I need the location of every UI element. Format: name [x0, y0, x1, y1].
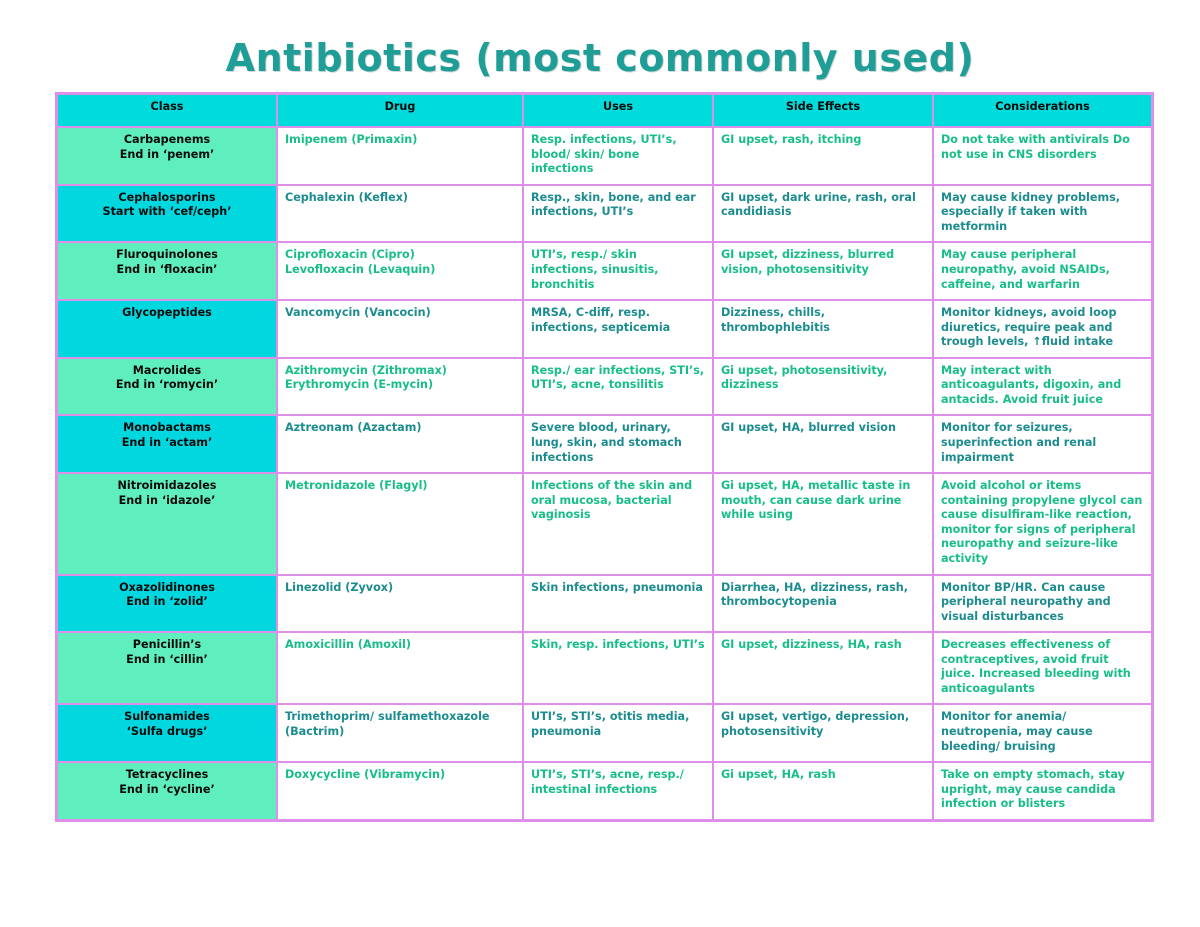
cell-uses-line: UTI’s, STI’s, otitis media, pneumonia: [531, 710, 705, 739]
cell-drug-line: Imipenem (Primaxin): [285, 133, 515, 148]
cell-side-effects: GI upset, HA, blurred vision: [714, 416, 934, 474]
cell-drug-line: Ciprofloxacin (Cipro): [285, 248, 515, 263]
class-name: Nitroimidazoles: [65, 479, 269, 494]
cell-class: CephalosporinsStart with ‘cef/ceph’: [58, 186, 278, 244]
class-name: Cephalosporins: [65, 191, 269, 206]
cell-class: MacrolidesEnd in ‘romycin’: [58, 359, 278, 417]
cell-class: Penicillin’sEnd in ‘cillin’: [58, 633, 278, 705]
cell-drug: Trimethoprim/ sulfamethoxazole (Bactrim): [278, 705, 524, 763]
table-row: MacrolidesEnd in ‘romycin’Azithromycin (…: [58, 359, 1151, 417]
cell-considerations: May cause peripheral neuropathy, avoid N…: [934, 243, 1151, 301]
cell-side-effects: GI upset, vertigo, depression, photosens…: [714, 705, 934, 763]
cell-side-effects-line: Diarrhea, HA, dizziness, rash, thrombocy…: [721, 581, 925, 610]
cell-class: OxazolidinonesEnd in ‘zolid’: [58, 576, 278, 634]
cell-uses-line: Resp./ ear infections, STI’s, UTI’s, acn…: [531, 364, 705, 393]
table-row: GlycopeptidesVancomycin (Vancocin)MRSA, …: [58, 301, 1151, 359]
cell-drug-line: Cephalexin (Keflex): [285, 191, 515, 206]
page-title: Antibiotics (most commonly used): [0, 36, 1200, 80]
cell-side-effects: Gi upset, photosensitivity, dizziness: [714, 359, 934, 417]
cell-side-effects-line: GI upset, dark urine, rash, oral candidi…: [721, 191, 925, 220]
cell-drug: Amoxicillin (Amoxil): [278, 633, 524, 705]
table-header: Class Drug Uses Side Effects Considerati…: [58, 95, 1151, 128]
column-header-side-effects: Side Effects: [714, 95, 934, 128]
cell-drug-line: Doxycycline (Vibramycin): [285, 768, 515, 783]
table-row: NitroimidazolesEnd in ‘idazole’Metronida…: [58, 474, 1151, 575]
class-hint: End in ‘floxacin’: [65, 263, 269, 278]
cell-considerations-line: Decreases effectiveness of contraceptive…: [941, 638, 1144, 696]
column-header-class: Class: [58, 95, 278, 128]
cell-drug: Azithromycin (Zithromax)Erythromycin (E-…: [278, 359, 524, 417]
cell-uses-line: Infections of the skin and oral mucosa, …: [531, 479, 705, 523]
cell-drug-line: Levofloxacin (Levaquin): [285, 263, 515, 278]
cell-drug: Vancomycin (Vancocin): [278, 301, 524, 359]
cell-uses: Skin infections, pneumonia: [524, 576, 714, 634]
cell-class: TetracyclinesEnd in ‘cycline’: [58, 763, 278, 819]
cell-considerations-line: May cause peripheral neuropathy, avoid N…: [941, 248, 1144, 292]
antibiotics-table: Class Drug Uses Side Effects Considerati…: [55, 92, 1154, 822]
cell-considerations: Monitor kidneys, avoid loop diuretics, r…: [934, 301, 1151, 359]
class-name: Oxazolidinones: [65, 581, 269, 596]
cell-drug-line: Vancomycin (Vancocin): [285, 306, 515, 321]
table-row: OxazolidinonesEnd in ‘zolid’Linezolid (Z…: [58, 576, 1151, 634]
class-name: Monobactams: [65, 421, 269, 436]
slide-page: Antibiotics (most commonly used) Class D…: [0, 0, 1200, 927]
cell-considerations-line: Monitor for seizures, superinfection and…: [941, 421, 1144, 465]
cell-class: CarbapenemsEnd in ‘penem’: [58, 128, 278, 186]
cell-drug-line: Amoxicillin (Amoxil): [285, 638, 515, 653]
table-row: TetracyclinesEnd in ‘cycline’Doxycycline…: [58, 763, 1151, 819]
cell-considerations: Do not take with antivirals Do not use i…: [934, 128, 1151, 186]
cell-uses-line: Resp., skin, bone, and ear infections, U…: [531, 191, 705, 220]
table-row: Penicillin’sEnd in ‘cillin’Amoxicillin (…: [58, 633, 1151, 705]
cell-drug-line: Metronidazole (Flagyl): [285, 479, 515, 494]
cell-considerations: Monitor for anemia/ neutropenia, may cau…: [934, 705, 1151, 763]
cell-side-effects: Dizziness, chills, thrombophlebitis: [714, 301, 934, 359]
class-hint: End in ‘cillin’: [65, 653, 269, 668]
cell-considerations-line: Take on empty stomach, stay upright, may…: [941, 768, 1144, 812]
class-hint: Start with ‘cef/ceph’: [65, 205, 269, 220]
cell-side-effects: GI upset, dizziness, blurred vision, pho…: [714, 243, 934, 301]
table-row: FluroquinolonesEnd in ‘floxacin’Ciproflo…: [58, 243, 1151, 301]
cell-side-effects-line: Gi upset, HA, metallic taste in mouth, c…: [721, 479, 925, 523]
cell-side-effects: GI upset, dark urine, rash, oral candidi…: [714, 186, 934, 244]
class-name: Penicillin’s: [65, 638, 269, 653]
column-header-considerations: Considerations: [934, 95, 1151, 128]
cell-considerations-line: Monitor for anemia/ neutropenia, may cau…: [941, 710, 1144, 754]
column-header-uses: Uses: [524, 95, 714, 128]
cell-drug: Ciprofloxacin (Cipro)Levofloxacin (Levaq…: [278, 243, 524, 301]
cell-uses-line: MRSA, C-diff, resp. infections, septicem…: [531, 306, 705, 335]
table-row: CephalosporinsStart with ‘cef/ceph’Cepha…: [58, 186, 1151, 244]
cell-uses-line: Skin, resp. infections, UTI’s: [531, 638, 705, 653]
class-hint: End in ‘cycline’: [65, 783, 269, 798]
antibiotics-table-container: Class Drug Uses Side Effects Considerati…: [55, 92, 1148, 822]
cell-drug: Cephalexin (Keflex): [278, 186, 524, 244]
cell-uses-line: Skin infections, pneumonia: [531, 581, 705, 596]
cell-drug: Linezolid (Zyvox): [278, 576, 524, 634]
class-hint: End in ‘penem’: [65, 148, 269, 163]
cell-class: Sulfonamides‘Sulfa drugs’: [58, 705, 278, 763]
cell-uses-line: UTI’s, resp./ skin infections, sinusitis…: [531, 248, 705, 292]
cell-uses-line: Severe blood, urinary, lung, skin, and s…: [531, 421, 705, 465]
cell-considerations: Take on empty stomach, stay upright, may…: [934, 763, 1151, 819]
cell-drug-line: Trimethoprim/ sulfamethoxazole (Bactrim): [285, 710, 515, 739]
table-row: MonobactamsEnd in ‘actam’Aztreonam (Azac…: [58, 416, 1151, 474]
cell-uses-line: Resp. infections, UTI’s, blood/ skin/ bo…: [531, 133, 705, 177]
cell-drug: Doxycycline (Vibramycin): [278, 763, 524, 819]
cell-side-effects-line: GI upset, rash, itching: [721, 133, 925, 148]
cell-side-effects-line: GI upset, HA, blurred vision: [721, 421, 925, 436]
cell-uses: Resp./ ear infections, STI’s, UTI’s, acn…: [524, 359, 714, 417]
cell-considerations: May cause kidney problems, especially if…: [934, 186, 1151, 244]
cell-considerations: Monitor for seizures, superinfection and…: [934, 416, 1151, 474]
cell-drug-line: Linezolid (Zyvox): [285, 581, 515, 596]
cell-side-effects-line: Gi upset, photosensitivity, dizziness: [721, 364, 925, 393]
class-hint: End in ‘actam’: [65, 436, 269, 451]
cell-uses: MRSA, C-diff, resp. infections, septicem…: [524, 301, 714, 359]
cell-uses: Severe blood, urinary, lung, skin, and s…: [524, 416, 714, 474]
cell-considerations: Decreases effectiveness of contraceptive…: [934, 633, 1151, 705]
class-name: Fluroquinolones: [65, 248, 269, 263]
cell-uses-line: UTI’s, STI’s, acne, resp./ intestinal in…: [531, 768, 705, 797]
cell-drug-line: Aztreonam (Azactam): [285, 421, 515, 436]
class-name: Tetracyclines: [65, 768, 269, 783]
cell-drug-line: Azithromycin (Zithromax): [285, 364, 515, 379]
cell-considerations: Monitor BP/HR. Can cause peripheral neur…: [934, 576, 1151, 634]
table-body: CarbapenemsEnd in ‘penem’Imipenem (Prima…: [58, 128, 1151, 819]
cell-considerations-line: Monitor BP/HR. Can cause peripheral neur…: [941, 581, 1144, 625]
cell-drug: Metronidazole (Flagyl): [278, 474, 524, 575]
cell-uses: Resp., skin, bone, and ear infections, U…: [524, 186, 714, 244]
cell-side-effects-line: GI upset, dizziness, HA, rash: [721, 638, 925, 653]
class-hint: End in ‘idazole’: [65, 494, 269, 509]
cell-considerations: May interact with anticoagulants, digoxi…: [934, 359, 1151, 417]
class-name: Carbapenems: [65, 133, 269, 148]
class-hint: End in ‘romycin’: [65, 378, 269, 393]
cell-class: MonobactamsEnd in ‘actam’: [58, 416, 278, 474]
class-name: Sulfonamides: [65, 710, 269, 725]
class-name: Macrolides: [65, 364, 269, 379]
cell-drug: Aztreonam (Azactam): [278, 416, 524, 474]
cell-uses: Skin, resp. infections, UTI’s: [524, 633, 714, 705]
cell-considerations-line: Monitor kidneys, avoid loop diuretics, r…: [941, 306, 1144, 350]
cell-side-effects: Gi upset, HA, rash: [714, 763, 934, 819]
cell-uses: Infections of the skin and oral mucosa, …: [524, 474, 714, 575]
cell-considerations-line: May interact with anticoagulants, digoxi…: [941, 364, 1144, 408]
class-hint: End in ‘zolid’: [65, 595, 269, 610]
cell-considerations-line: Do not take with antivirals Do not use i…: [941, 133, 1144, 162]
cell-class: Glycopeptides: [58, 301, 278, 359]
cell-side-effects: GI upset, rash, itching: [714, 128, 934, 186]
cell-uses: UTI’s, STI’s, otitis media, pneumonia: [524, 705, 714, 763]
cell-side-effects-line: GI upset, vertigo, depression, photosens…: [721, 710, 925, 739]
table-row: Sulfonamides‘Sulfa drugs’Trimethoprim/ s…: [58, 705, 1151, 763]
cell-side-effects-line: Gi upset, HA, rash: [721, 768, 925, 783]
class-name: Glycopeptides: [65, 306, 269, 321]
cell-uses: UTI’s, resp./ skin infections, sinusitis…: [524, 243, 714, 301]
cell-side-effects: Gi upset, HA, metallic taste in mouth, c…: [714, 474, 934, 575]
cell-class: NitroimidazolesEnd in ‘idazole’: [58, 474, 278, 575]
cell-considerations: Avoid alcohol or items containing propyl…: [934, 474, 1151, 575]
cell-drug-line: Erythromycin (E-mycin): [285, 378, 515, 393]
cell-class: FluroquinolonesEnd in ‘floxacin’: [58, 243, 278, 301]
cell-uses: Resp. infections, UTI’s, blood/ skin/ bo…: [524, 128, 714, 186]
table-row: CarbapenemsEnd in ‘penem’Imipenem (Prima…: [58, 128, 1151, 186]
class-hint: ‘Sulfa drugs’: [65, 725, 269, 740]
cell-side-effects-line: GI upset, dizziness, blurred vision, pho…: [721, 248, 925, 277]
cell-uses: UTI’s, STI’s, acne, resp./ intestinal in…: [524, 763, 714, 819]
cell-drug: Imipenem (Primaxin): [278, 128, 524, 186]
header-row: Class Drug Uses Side Effects Considerati…: [58, 95, 1151, 128]
cell-side-effects-line: Dizziness, chills, thrombophlebitis: [721, 306, 925, 335]
cell-side-effects: GI upset, dizziness, HA, rash: [714, 633, 934, 705]
cell-side-effects: Diarrhea, HA, dizziness, rash, thrombocy…: [714, 576, 934, 634]
cell-considerations-line: May cause kidney problems, especially if…: [941, 191, 1144, 235]
cell-considerations-line: Avoid alcohol or items containing propyl…: [941, 479, 1144, 566]
column-header-drug: Drug: [278, 95, 524, 128]
